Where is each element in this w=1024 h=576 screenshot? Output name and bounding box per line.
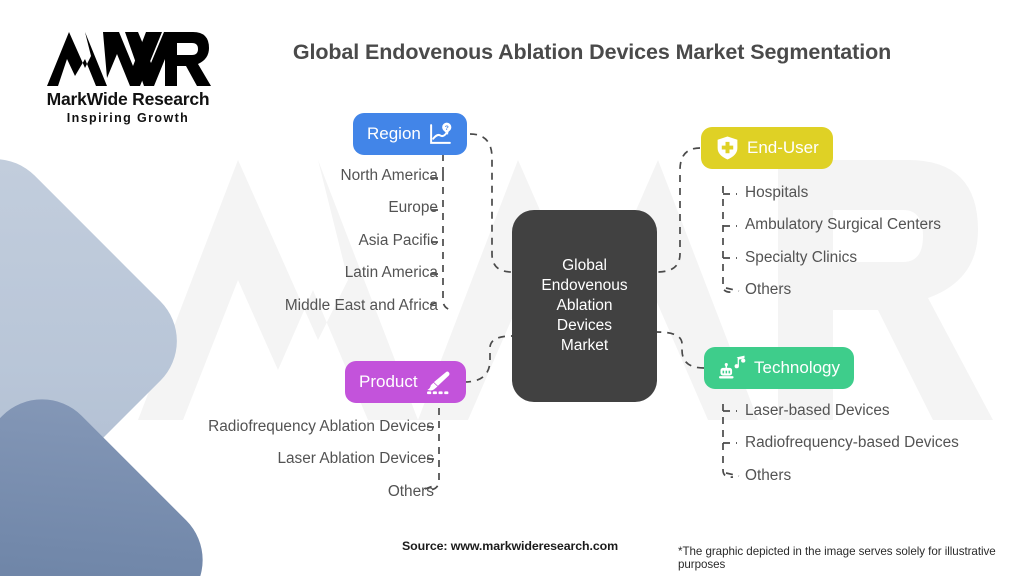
shield-medical-cross-icon (715, 135, 740, 161)
brand-logo: MarkWide Research Inspiring Growth (28, 30, 228, 125)
disclaimer-label: *The graphic depicted in the image serve… (678, 545, 1024, 571)
branch-label-technology: Technology (754, 358, 840, 378)
connector-tech-to-center (657, 332, 704, 368)
leaf-item: Laser-based Devices (745, 403, 959, 418)
connector-product-to-center (464, 336, 512, 382)
leaf-item: North America (0, 168, 438, 183)
center-node: Global Endovenous Ablation Devices Marke… (512, 210, 657, 402)
connector-tech-spine (723, 404, 733, 477)
center-node-line-1: Global (541, 256, 627, 276)
leaf-item: Radiofrequency Ablation Devices (0, 419, 434, 434)
leaf-item: Radiofrequency-based Devices (745, 435, 959, 450)
paintbrush-icon (425, 370, 452, 395)
center-node-line-3: Ablation (541, 296, 627, 316)
svg-text:?: ? (445, 124, 449, 131)
branch-label-region: Region (367, 124, 421, 144)
brand-tagline: Inspiring Growth (28, 111, 228, 125)
branch-badge-region[interactable]: Region ? (353, 113, 467, 155)
leaf-item: Europe (0, 200, 438, 215)
connector-enduser-to-center (657, 148, 700, 272)
leaf-item: Ambulatory Surgical Centers (745, 217, 941, 232)
brand-name: MarkWide Research (28, 89, 228, 110)
leaf-item: Others (745, 468, 959, 483)
connector-enduser-spine (723, 186, 733, 292)
source-label: Source: www.markwideresearch.com (402, 539, 618, 553)
leaf-item: Specialty Clinics (745, 250, 941, 265)
branch-badge-technology[interactable]: Technology (704, 347, 854, 389)
leaf-list-region: North America Europe Asia Pacific Latin … (0, 168, 438, 330)
center-node-line-4: Devices (541, 316, 627, 336)
connector-enduser-tick-3 (726, 288, 739, 291)
analytics-question-icon: ? (428, 122, 453, 147)
center-node-line-2: Endovenous (541, 276, 627, 296)
leaf-item: Hospitals (745, 185, 941, 200)
leaf-item: Others (0, 484, 434, 499)
leaf-list-technology: Laser-based Devices Radiofrequency-based… (745, 403, 959, 500)
leaf-item: Others (745, 282, 941, 297)
mwr-monogram-icon (45, 30, 211, 88)
infographic-canvas: MarkWide Research Inspiring Growth Globa… (0, 0, 1024, 576)
leaf-list-product: Radiofrequency Ablation Devices Laser Ab… (0, 419, 434, 516)
branch-badge-product[interactable]: Product (345, 361, 466, 403)
connector-region-spine (443, 174, 451, 310)
branch-badge-end-user[interactable]: End-User (701, 127, 833, 169)
branch-label-end-user: End-User (747, 138, 819, 158)
connector-region-to-center (470, 134, 512, 272)
connector-tech-tick-2 (726, 473, 739, 476)
center-node-line-5: Market (541, 336, 627, 356)
branch-label-product: Product (359, 372, 418, 392)
leaf-item: Latin America (0, 265, 438, 280)
leaf-item: Middle East and Africa (0, 298, 438, 313)
leaf-item: Asia Pacific (0, 233, 438, 248)
page-title: Global Endovenous Ablation Devices Marke… (232, 40, 952, 65)
leaf-item: Laser Ablation Devices (0, 451, 434, 466)
robot-music-icon (718, 355, 747, 381)
leaf-list-end-user: Hospitals Ambulatory Surgical Centers Sp… (745, 185, 941, 315)
